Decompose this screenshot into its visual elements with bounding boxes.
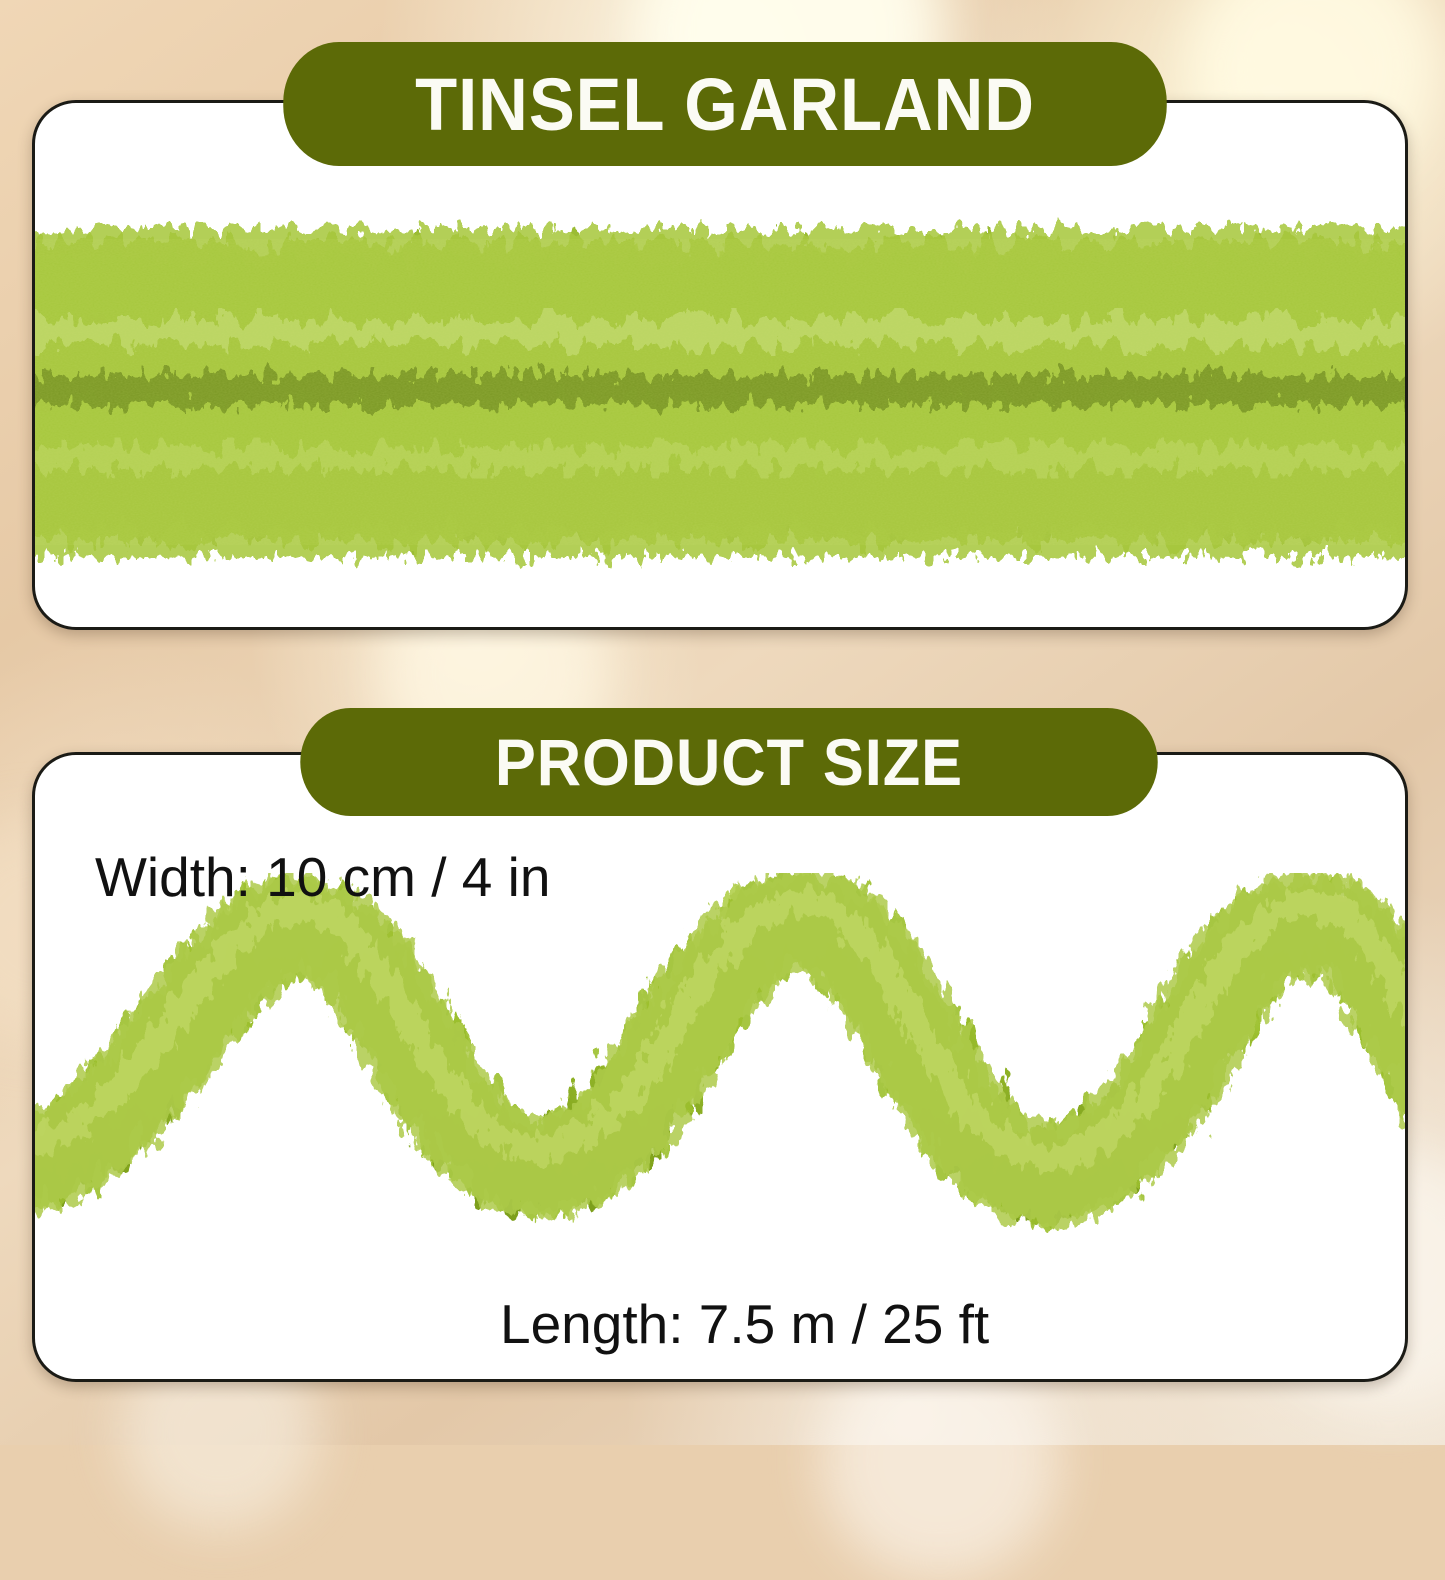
width-dimension-label: Width: 10 cm / 4 in bbox=[95, 845, 550, 909]
tinsel-strip-image bbox=[32, 199, 1408, 591]
length-dimension-label: Length: 7.5 m / 25 ft bbox=[500, 1292, 989, 1356]
banner-product-size: PRODUCT SIZE bbox=[300, 708, 1157, 816]
tinsel-product-card bbox=[32, 100, 1408, 630]
banner-size-text: PRODUCT SIZE bbox=[495, 724, 963, 800]
garland-wave-image bbox=[35, 873, 1408, 1273]
banner-tinsel-garland: TINSEL GARLAND bbox=[283, 42, 1167, 166]
banner-title-text: TINSEL GARLAND bbox=[415, 62, 1035, 147]
